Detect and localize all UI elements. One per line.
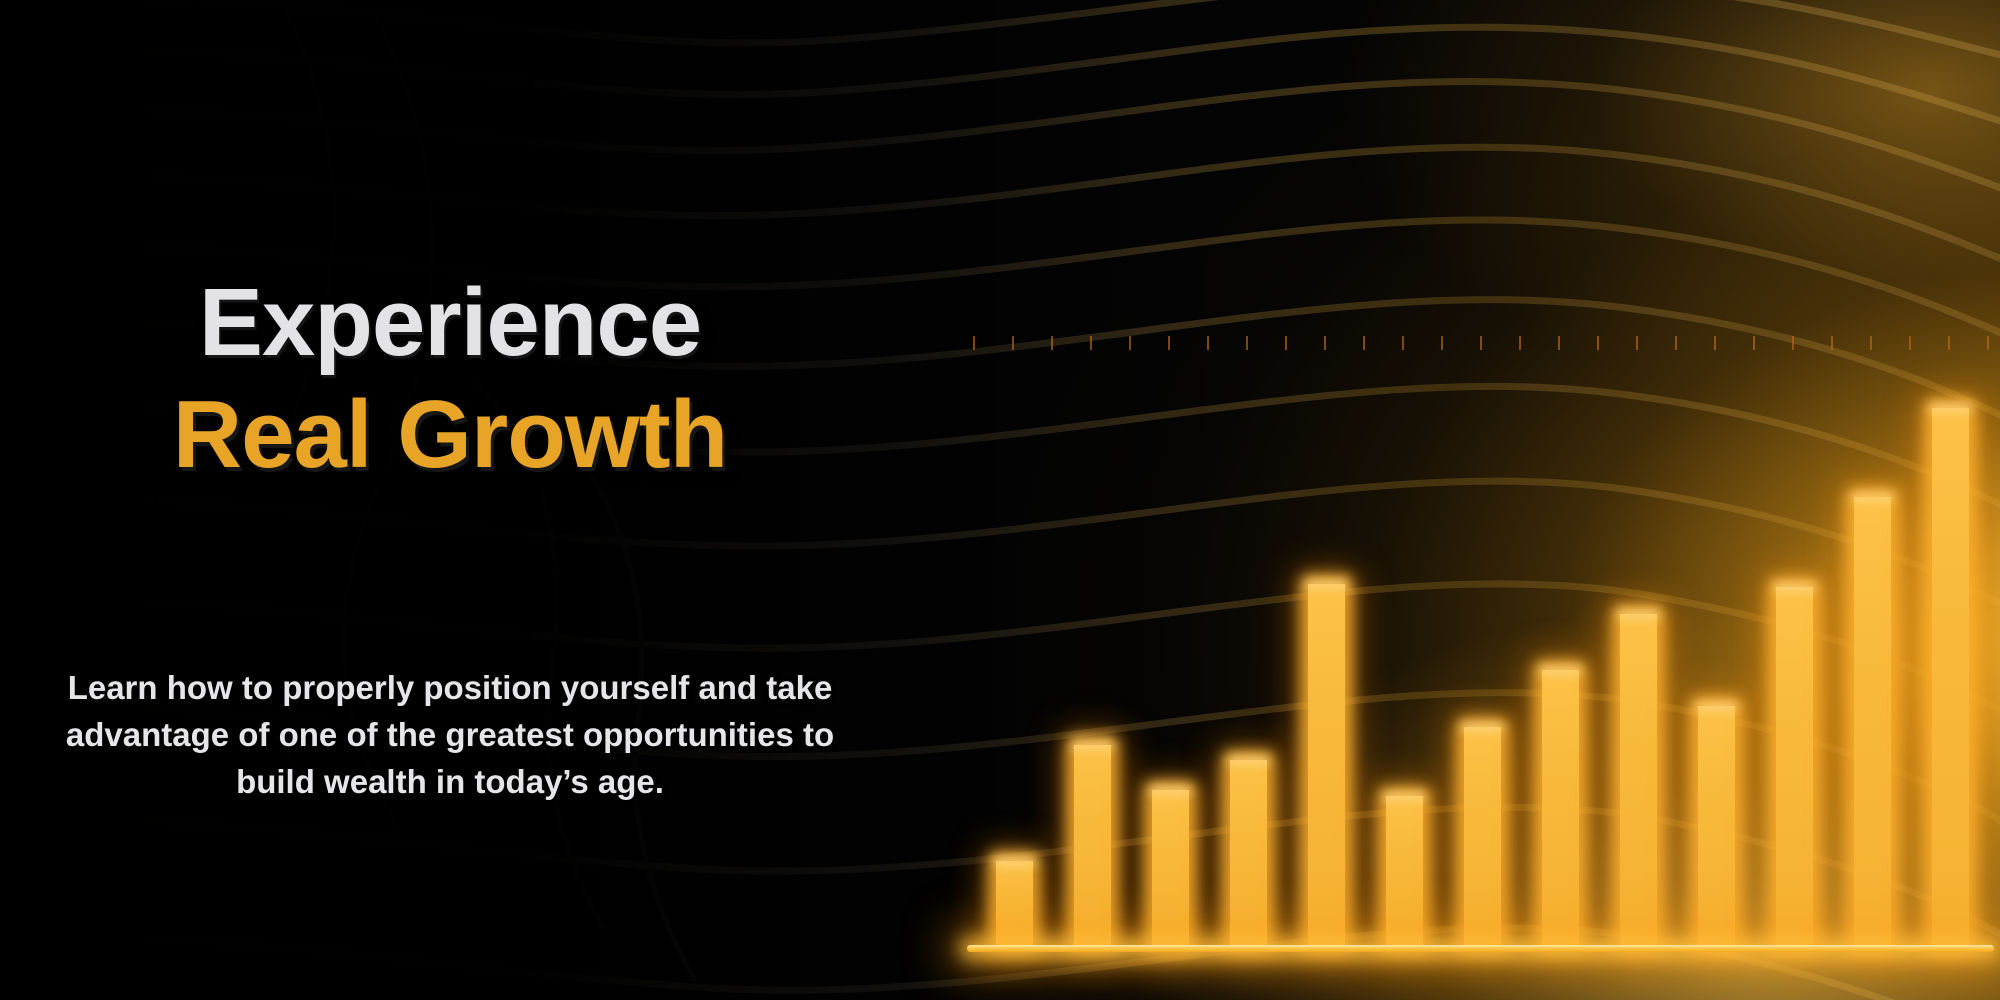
page-title: Experience Real Growth	[0, 275, 900, 483]
chart-bar	[1464, 727, 1501, 945]
chart-bar	[1230, 760, 1267, 945]
growth-bar-chart	[973, 348, 2000, 948]
hero-text-column: Experience Real Growth Learn how to prop…	[0, 0, 900, 1000]
headline-line-2: Real Growth	[0, 387, 900, 483]
chart-bar	[1620, 614, 1657, 945]
chart-bar	[1386, 796, 1423, 945]
chart-bar	[1932, 408, 1969, 945]
chart-bar	[996, 861, 1033, 945]
chart-bar	[1698, 706, 1735, 945]
chart-bar	[1308, 584, 1345, 945]
chart-bar	[1776, 587, 1813, 945]
chart-baseline	[967, 945, 1994, 952]
chart-bars	[973, 348, 2000, 945]
chart-bar	[1854, 497, 1891, 945]
chart-bar	[1542, 670, 1579, 945]
chart-bar	[1152, 790, 1189, 945]
hero-description: Learn how to properly position yourself …	[60, 665, 840, 806]
hero-banner: Experience Real Growth Learn how to prop…	[0, 0, 2000, 1000]
chart-bar	[1074, 745, 1111, 945]
headline-line-1: Experience	[0, 275, 900, 371]
